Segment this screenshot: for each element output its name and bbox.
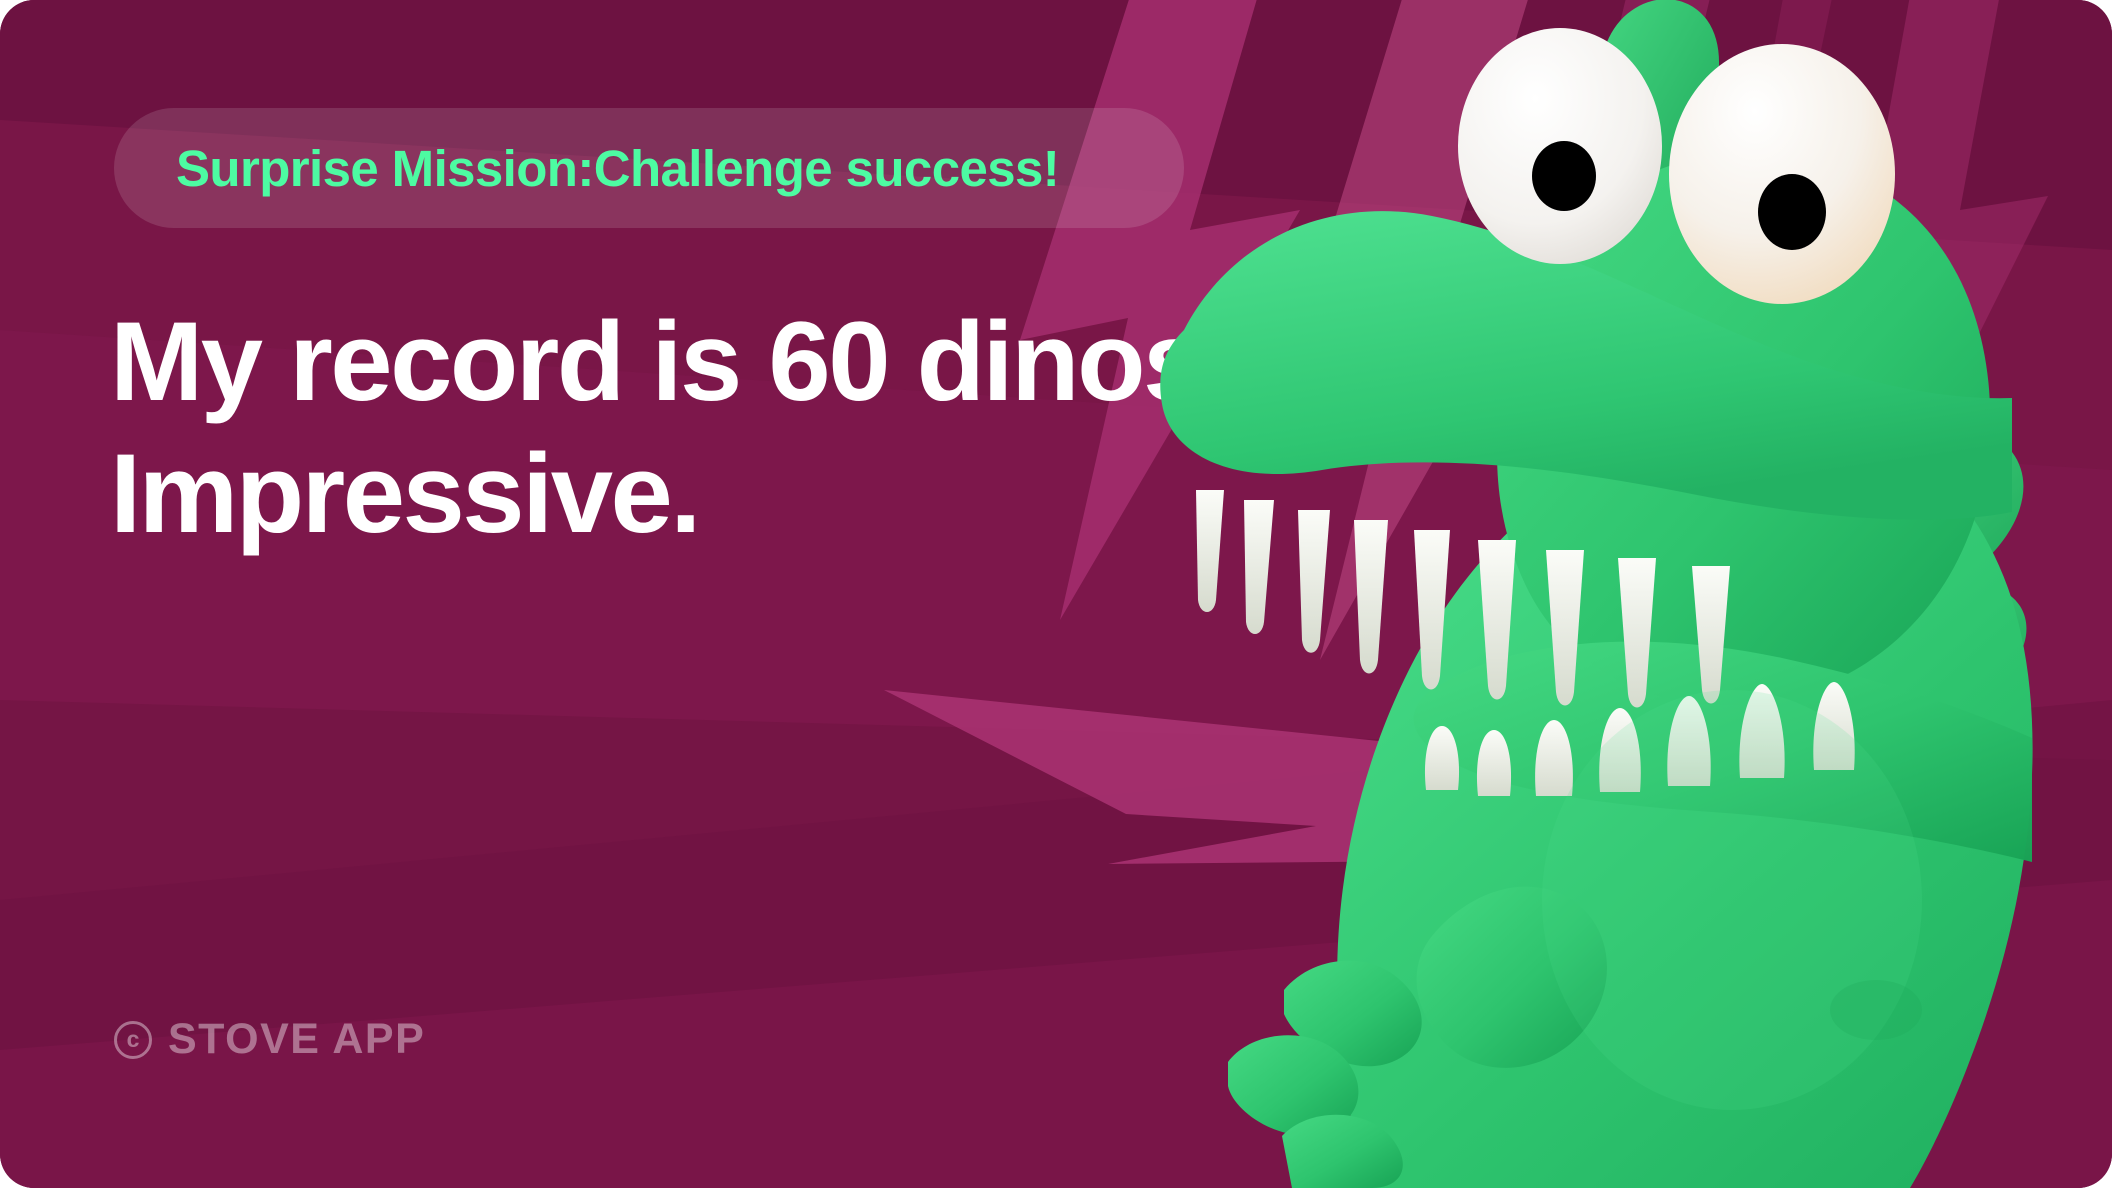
shade-band-lower <box>0 700 2112 1188</box>
dino-lower-teeth <box>1425 682 1855 796</box>
lightning-streak-small <box>1748 0 1852 330</box>
dino-spines <box>1597 0 2027 933</box>
spine-1 <box>1597 0 1719 217</box>
headline-line-1: My record is 60 dinos! <box>110 296 1290 428</box>
spine-2 <box>1711 172 1897 400</box>
dino-pupil-right <box>1758 174 1826 250</box>
spine-4 <box>1885 581 2027 711</box>
mission-status-label: Surprise Mission:Challenge success! <box>176 143 1059 194</box>
dino-head <box>1497 152 1990 705</box>
page-title: My record is 60 dinos! Impressive. <box>110 296 1290 560</box>
lightning-bolt-horizontal <box>884 690 1972 864</box>
dino-eye-right <box>1669 44 1895 304</box>
dino-torso <box>1337 414 2032 1188</box>
spine-6 <box>1896 864 1969 934</box>
dino-hand <box>1228 961 1422 1188</box>
headline-line-2: Impressive. <box>110 428 1290 560</box>
lightning-bolt-4 <box>1856 0 2048 520</box>
dinosaur-mascot <box>1132 0 2112 1188</box>
dino-belly-dimple <box>1830 980 1922 1040</box>
dino-lower-jaw <box>1414 642 2032 862</box>
dino-body-highlight <box>1542 690 1922 1110</box>
achievement-card: Surprise Mission:Challenge success! My r… <box>0 0 2112 1188</box>
lightning-bolt-3 <box>1566 0 1748 430</box>
copyright-icon: c <box>114 1021 152 1059</box>
footer-attribution: c STOVE APP <box>114 1018 425 1061</box>
mission-status-badge: Surprise Mission:Challenge success! <box>114 108 1184 228</box>
dino-eye-left <box>1458 28 1662 264</box>
spine-3 <box>1825 423 2023 609</box>
dino-pupil-left <box>1532 141 1596 211</box>
lightning-bolt-2 <box>1290 0 1566 660</box>
spine-5 <box>1900 732 2002 829</box>
dino-arm <box>1417 887 1607 1068</box>
app-name-label: STOVE APP <box>168 1018 425 1061</box>
